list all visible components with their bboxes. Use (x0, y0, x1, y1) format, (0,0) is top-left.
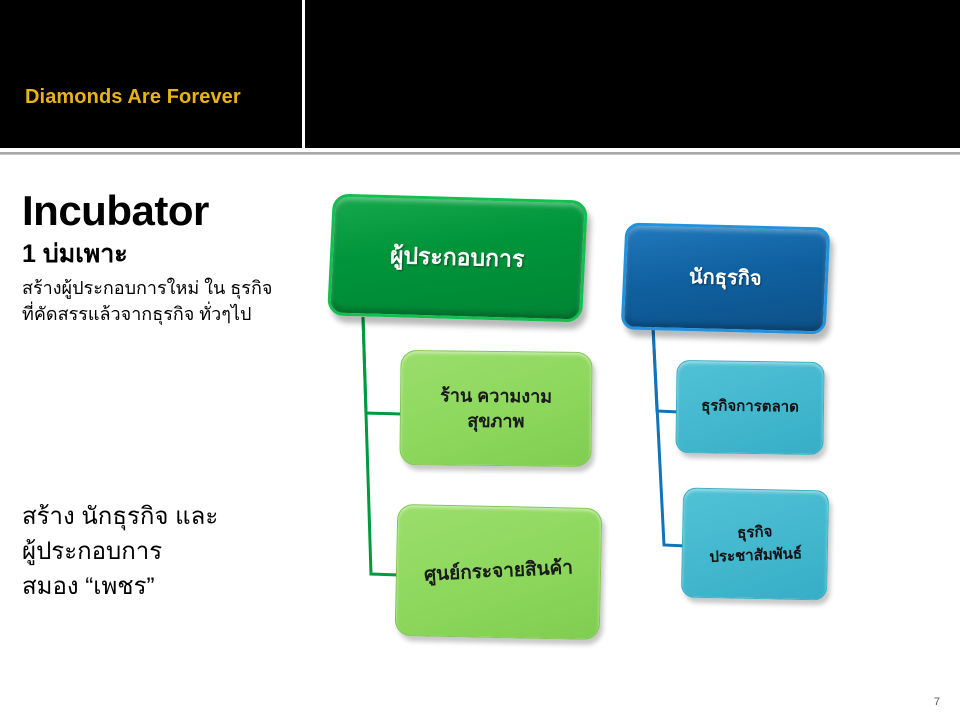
node-businessman-parent[interactable]: นักธุรกิจ (621, 223, 831, 335)
node-businessman-child-2-label: ธุรกิจ ประชาสัมพันธ์ (708, 520, 802, 569)
slide: Diamonds Are Forever Incubator 1 บ่มเพาะ… (0, 0, 960, 720)
node-entrepreneur-parent[interactable]: ผู้ประกอบการ (327, 193, 588, 322)
node-entrepreneur-child-1-label: ร้าน ความงาม สุขภาพ (440, 384, 552, 434)
page-number: 7 (934, 696, 940, 708)
node-businessman-parent-label: นักธุรกิจ (689, 264, 762, 293)
node-entrepreneur-child-2-label: ศูนย์กระจายสินค้า (423, 556, 573, 589)
connector-entrepreneur-child-1 (363, 317, 401, 414)
node-businessman-child-1[interactable]: ธุรกิจการตลาด (675, 360, 824, 455)
connector-businessman-child-1 (653, 327, 679, 412)
node-businessman-child-1-label: ธุรกิจการตลาด (701, 397, 799, 419)
node-entrepreneur-parent-label: ผู้ประกอบการ (390, 241, 525, 276)
node-businessman-child-2[interactable]: ธุรกิจ ประชาสัมพันธ์ (681, 487, 829, 600)
org-diagram: ผู้ประกอบการ ร้าน ความงาม สุขภาพ ศูนย์กร… (0, 0, 960, 720)
connector-group-entrepreneur (363, 317, 401, 575)
node-entrepreneur-child-1[interactable]: ร้าน ความงาม สุขภาพ (399, 350, 592, 467)
connector-entrepreneur-child-2 (363, 317, 399, 575)
node-entrepreneur-child-2[interactable]: ศูนย์กระจายสินค้า (395, 504, 603, 640)
